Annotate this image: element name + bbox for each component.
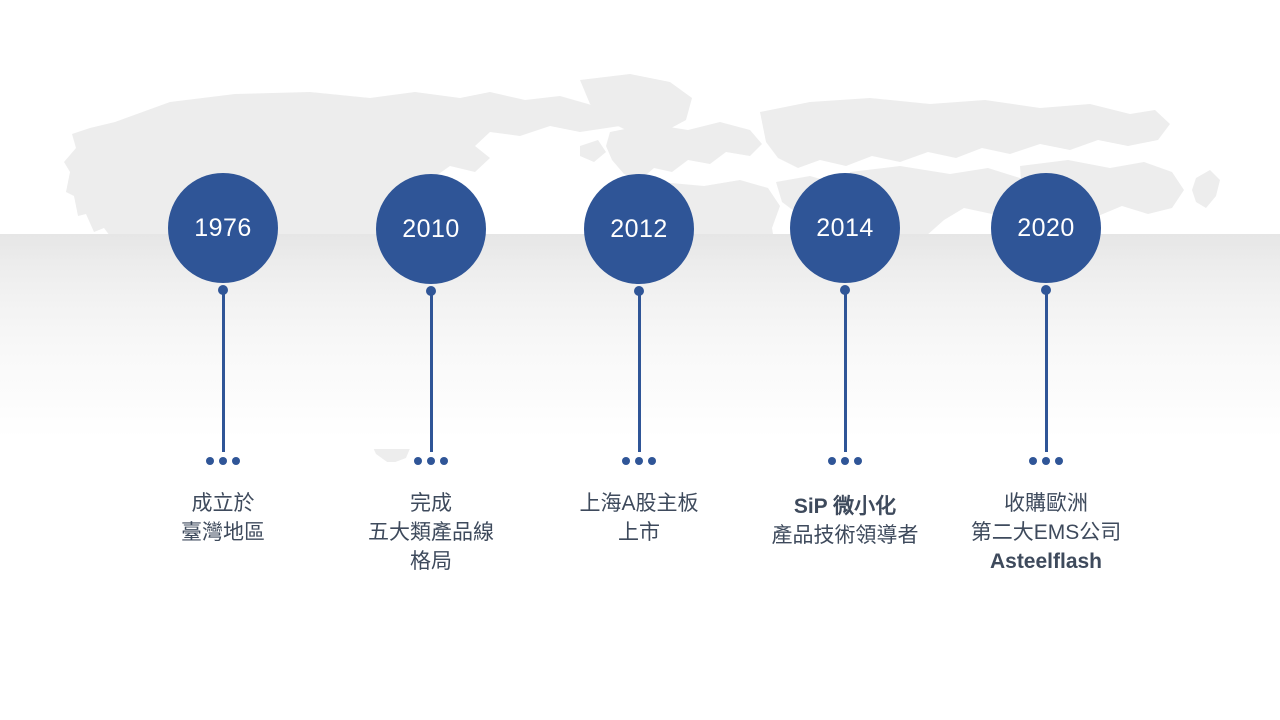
connector-stem: [222, 292, 225, 452]
year-circle-2020[interactable]: 2020: [991, 173, 1101, 283]
timeline-track: 1976 成立於 臺灣地區 2010: [0, 0, 1280, 720]
dot-2: [427, 457, 435, 465]
three-dot-cluster: [622, 457, 656, 465]
three-dot-cluster: [1029, 457, 1063, 465]
dot-2: [1042, 457, 1050, 465]
three-dot-cluster: [206, 457, 240, 465]
timeline-slide: 1976 成立於 臺灣地區 2010: [0, 0, 1280, 720]
year-label: 2020: [1017, 216, 1075, 241]
three-dot-cluster: [414, 457, 448, 465]
caption-line: 第二大EMS公司: [916, 518, 1176, 547]
caption-line: Asteelflash: [916, 547, 1176, 576]
year-label: 2012: [610, 217, 668, 242]
dot-2: [841, 457, 849, 465]
dot-1: [206, 457, 214, 465]
dot-3: [440, 457, 448, 465]
connector-stem: [430, 293, 433, 452]
year-label: 2010: [402, 217, 460, 242]
dot-3: [1055, 457, 1063, 465]
connector-stem: [1045, 292, 1048, 452]
dot-2: [219, 457, 227, 465]
dot-1: [414, 457, 422, 465]
year-label: 1976: [194, 216, 252, 241]
three-dot-cluster: [828, 457, 862, 465]
connector-stem: [844, 292, 847, 452]
dot-3: [648, 457, 656, 465]
year-label: 2014: [816, 216, 874, 241]
dot-3: [232, 457, 240, 465]
dot-3: [854, 457, 862, 465]
year-circle-2014[interactable]: 2014: [790, 173, 900, 283]
caption-line: 收購歐洲: [916, 489, 1176, 518]
dot-2: [635, 457, 643, 465]
milestone-caption: 收購歐洲 第二大EMS公司 Asteelflash: [916, 489, 1176, 576]
year-circle-2010[interactable]: 2010: [376, 174, 486, 284]
dot-1: [828, 457, 836, 465]
year-circle-1976[interactable]: 1976: [168, 173, 278, 283]
year-circle-2012[interactable]: 2012: [584, 174, 694, 284]
connector-stem: [638, 293, 641, 452]
dot-1: [622, 457, 630, 465]
timeline-milestone-2020[interactable]: 2020 收購歐洲 第二大EMS公司 Asteelflash: [916, 0, 1176, 720]
dot-1: [1029, 457, 1037, 465]
